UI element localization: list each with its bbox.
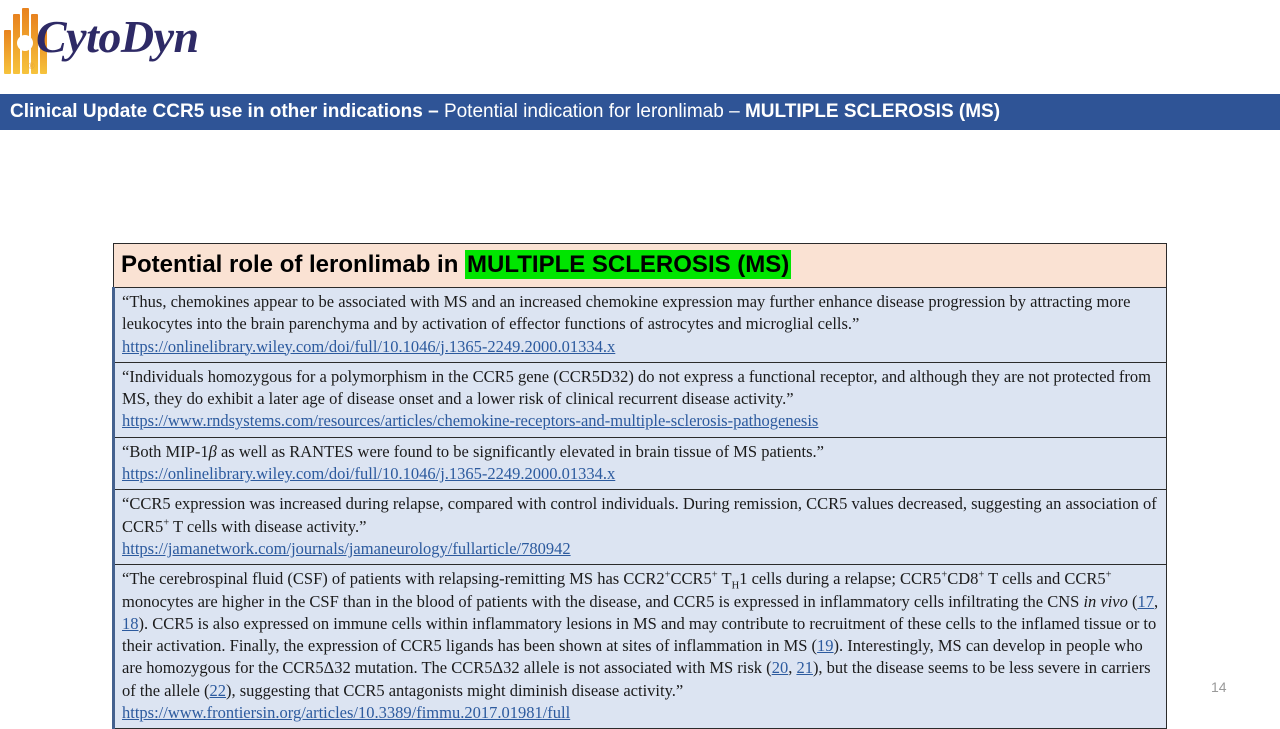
evidence-cell-1: “Thus, chemokines appear to be associate… (114, 288, 1167, 363)
evidence-cell-3: “Both MIP-1β as well as RANTES were foun… (114, 437, 1167, 490)
logo-circle-icon (17, 35, 33, 51)
quote-text-5-p2: CCR5 (671, 569, 712, 588)
slide-header-banner: Clinical Update CCR5 use in other indica… (0, 94, 1280, 130)
quote-text-5-p9: , (1154, 592, 1158, 611)
quote-text-2: “Individuals homozygous for a polymorphi… (122, 367, 1151, 408)
slide-header-text: Clinical Update CCR5 use in other indica… (0, 94, 1000, 130)
quote-text-5-p6: T cells and CCR5 (984, 569, 1105, 588)
quote-text-4b: T cells with disease activity.” (169, 517, 366, 536)
reference-link-18[interactable]: 18 (122, 614, 139, 633)
quote-text-5-p5: CD8 (947, 569, 978, 588)
table-row: “The cerebrospinal fluid (CSF) of patien… (114, 565, 1167, 729)
source-link-3[interactable]: https://onlinelibrary.wiley.com/doi/full… (122, 464, 615, 483)
reference-link-21[interactable]: 21 (796, 658, 813, 677)
quote-text-3-pre: “Both MIP-1 (122, 442, 209, 461)
cytodyn-wordmark: CytoDyn (36, 8, 199, 66)
table-row: “Individuals homozygous for a polymorphi… (114, 362, 1167, 437)
quote-text-5-p1: “The cerebrospinal fluid (CSF) of patien… (122, 569, 665, 588)
evidence-cell-5: “The cerebrospinal fluid (CSF) of patien… (114, 565, 1167, 729)
logo: ® CytoDyn (0, 0, 400, 90)
page-number: 14 (1211, 679, 1227, 695)
superscript-plus: + (1106, 570, 1112, 581)
quote-text-5-p4: 1 cells during a relapse; CCR5 (739, 569, 941, 588)
quote-text-5-p3: T (718, 569, 732, 588)
reference-link-22[interactable]: 22 (210, 681, 227, 700)
quote-text-5-p7: monocytes are higher in the CSF than in … (122, 592, 1083, 611)
title-prefix: Potential role of leronlimab in (121, 251, 465, 278)
table-title-row: Potential role of leronlimab in MULTIPLE… (114, 244, 1167, 288)
reference-link-17[interactable]: 17 (1138, 592, 1155, 611)
table-title-cell: Potential role of leronlimab in MULTIPLE… (114, 244, 1167, 288)
banner-dash-1: – (428, 101, 444, 122)
reference-link-20[interactable]: 20 (772, 658, 789, 677)
source-link-5[interactable]: https://www.frontiersin.org/articles/10.… (122, 703, 570, 722)
quote-text-5-p8: ( (1128, 592, 1138, 611)
table-row: “Thus, chemokines appear to be associate… (114, 288, 1167, 363)
reference-link-19[interactable]: 19 (817, 636, 834, 655)
evidence-table: Potential role of leronlimab in MULTIPLE… (112, 243, 1167, 729)
beta-symbol: β (209, 442, 217, 461)
quote-text-5-p14: ), suggesting that CCR5 antagonists migh… (226, 681, 683, 700)
logo-bar (4, 30, 11, 74)
quote-text-3-post: as well as RANTES were found to be signi… (217, 442, 824, 461)
banner-normal-mid: Potential indication for leronlimab (444, 101, 729, 122)
evidence-cell-4: “CCR5 expression was increased during re… (114, 490, 1167, 565)
banner-bold-lead: Clinical Update CCR5 use in other indica… (10, 101, 428, 122)
banner-dash-2: – (729, 101, 745, 122)
in-vivo-italic: in vivo (1083, 592, 1127, 611)
title-highlight: MULTIPLE SCLEROSIS (MS) (465, 250, 791, 279)
source-link-4[interactable]: https://jamanetwork.com/journals/jamaneu… (122, 539, 571, 558)
banner-bold-tail: MULTIPLE SCLEROSIS (MS) (745, 101, 1000, 122)
table-title-text: Potential role of leronlimab in MULTIPLE… (121, 244, 1166, 285)
registered-trademark-symbol: ® (28, 62, 35, 71)
quote-text-1: “Thus, chemokines appear to be associate… (122, 292, 1130, 333)
source-link-2[interactable]: https://www.rndsystems.com/resources/art… (122, 411, 818, 430)
table-row: “Both MIP-1β as well as RANTES were foun… (114, 437, 1167, 490)
source-link-1[interactable]: https://onlinelibrary.wiley.com/doi/full… (122, 337, 615, 356)
table-row: “CCR5 expression was increased during re… (114, 490, 1167, 565)
evidence-cell-2: “Individuals homozygous for a polymorphi… (114, 362, 1167, 437)
